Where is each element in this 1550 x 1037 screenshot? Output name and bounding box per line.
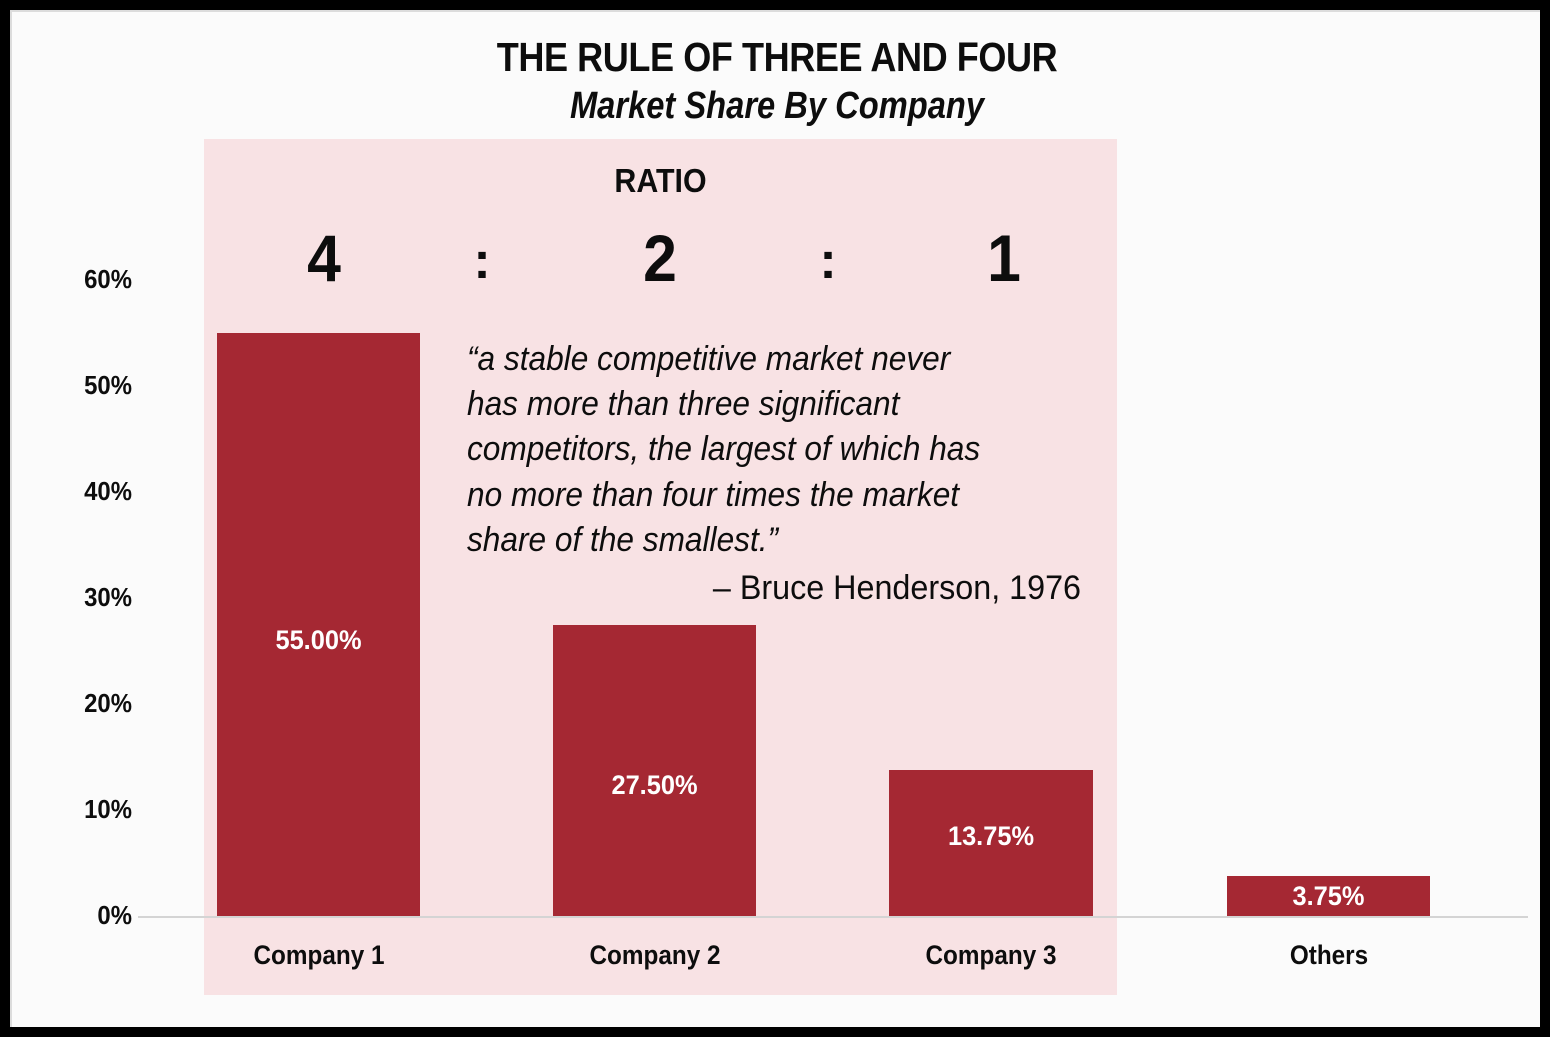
page-subtitle: Market Share By Company — [119, 85, 1435, 128]
bar[interactable]: 13.75% — [889, 770, 1093, 916]
bar[interactable]: 3.75% — [1227, 876, 1430, 916]
chart-canvas: THE RULE OF THREE AND FOUR Market Share … — [10, 10, 1540, 1027]
y-axis-tick-label: 30% — [22, 582, 132, 613]
bar-value-label: 3.75% — [1233, 881, 1424, 912]
title-block: THE RULE OF THREE AND FOUR Market Share … — [12, 34, 1540, 128]
ratio-value-1: 4 — [280, 225, 368, 291]
ratio-separator-1: : — [452, 235, 512, 287]
ratio-separator-2: : — [798, 235, 858, 287]
quote-attribution: – Bruce Henderson, 1976 — [498, 569, 1081, 608]
ratio-value-3: 1 — [960, 225, 1048, 291]
x-axis-line — [138, 916, 1528, 918]
x-axis-category-label: Company 1 — [193, 940, 445, 971]
quote-text: “a stable competitive market never has m… — [467, 337, 1038, 563]
y-axis-tick-label: 50% — [22, 370, 132, 401]
quote-block: “a stable competitive market never has m… — [467, 337, 1081, 608]
chart-frame: THE RULE OF THREE AND FOUR Market Share … — [0, 0, 1550, 1037]
bar-value-label: 13.75% — [895, 821, 1087, 852]
bar-value-label: 55.00% — [223, 625, 414, 656]
y-axis-tick-label: 60% — [22, 264, 132, 295]
x-axis-category-label: Others — [1203, 940, 1455, 971]
page-title: THE RULE OF THREE AND FOUR — [104, 34, 1450, 81]
x-axis-category-label: Company 2 — [529, 940, 781, 971]
ratio-heading: RATIO — [241, 162, 1081, 200]
y-axis-tick-label: 0% — [22, 900, 132, 931]
bar[interactable]: 27.50% — [553, 625, 756, 917]
y-axis-tick-label: 20% — [22, 688, 132, 719]
x-axis-category-label: Company 3 — [865, 940, 1117, 971]
bar-value-label: 27.50% — [559, 770, 750, 801]
bar[interactable]: 55.00% — [217, 333, 420, 916]
y-axis-tick-label: 40% — [22, 476, 132, 507]
ratio-value-2: 2 — [616, 225, 704, 291]
y-axis-tick-label: 10% — [22, 794, 132, 825]
